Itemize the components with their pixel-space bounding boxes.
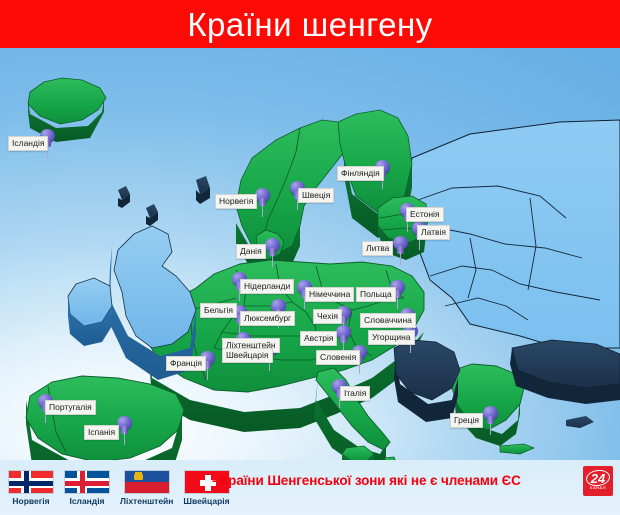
legend-flag-cell-li: Ліхтенштейн <box>120 470 173 506</box>
country-label-9: Німеччина <box>305 287 354 302</box>
country-label-23: Італія <box>340 386 370 401</box>
country-label-24: Греція <box>450 413 483 428</box>
legend-flag-label-li: Ліхтенштейн <box>120 496 173 506</box>
channel-logo[interactable]: 24 КАНАЛ <box>583 466 613 496</box>
logo-ring <box>585 468 611 487</box>
country-label-14: Словаччина <box>360 313 416 328</box>
legend-flags: НорвегіяІсландіяЛіхтенштейнШвейцарія <box>8 470 230 506</box>
country-label-16: Австрія <box>300 331 337 346</box>
country-label-21: Португалія <box>45 400 96 415</box>
country-label-13: Чехія <box>313 309 342 324</box>
country-label-8: Нідерланди <box>240 279 294 294</box>
country-label-5: Латвія <box>417 225 450 240</box>
legend-flag-cell-is: Ісландія <box>64 470 110 506</box>
legend-note: - Країни Шенгенської зони які не є члена… <box>212 473 521 488</box>
europe-map-svg <box>0 48 620 460</box>
country-label-2: Швеція <box>298 188 334 203</box>
pin-needle-icon <box>397 296 399 309</box>
country-label-12: Люксембург <box>240 311 295 326</box>
country-label-4: Естонія <box>406 207 444 222</box>
country-label-20: Франція <box>166 356 206 371</box>
infographic-root: Країни шенгену <box>0 0 620 515</box>
country-label-6: Литва <box>362 241 393 256</box>
flag-icon-li <box>124 470 170 494</box>
country-label-18: Швейцарія <box>222 348 273 363</box>
legend-flag-cell-no: Норвегія <box>8 470 54 506</box>
flag-icon-is <box>64 470 110 494</box>
pin-needle-icon <box>262 204 264 217</box>
country-label-7: Данія <box>236 244 266 259</box>
title-bar: Країни шенгену <box>0 0 620 48</box>
country-label-3: Фінляндія <box>337 166 384 181</box>
north-atlantic-rocks <box>118 176 210 226</box>
map-pin-6[interactable] <box>393 236 409 266</box>
pin-needle-icon <box>124 432 126 445</box>
country-label-22: Іспанія <box>84 425 119 440</box>
map-stage: ІсландіяНорвегіяШвеціяФінляндіяЕстоніяЛа… <box>0 48 620 460</box>
country-label-1: Норвегія <box>215 194 257 209</box>
country-label-0: Ісландія <box>8 136 48 151</box>
country-label-10: Польща <box>356 287 396 302</box>
page-title: Країни шенгену <box>187 8 432 41</box>
pin-needle-icon <box>207 367 209 380</box>
map-pin-24[interactable] <box>483 406 499 436</box>
map-pin-1[interactable] <box>255 188 271 218</box>
country-label-11: Бельгія <box>200 303 237 318</box>
country-label-17: Угорщина <box>368 330 415 345</box>
legend-flag-label-no: Норвегія <box>12 496 49 506</box>
legend-flag-label-ch: Швейцарія <box>183 496 229 506</box>
pin-needle-icon <box>400 252 402 265</box>
pin-needle-icon <box>272 254 274 267</box>
pin-needle-icon <box>490 422 492 435</box>
map-pin-22[interactable] <box>117 416 133 446</box>
map-pin-7[interactable] <box>265 238 281 268</box>
flag-icon-no <box>8 470 54 494</box>
iceland-top <box>28 78 106 124</box>
legend-flag-label-is: Ісландія <box>69 496 104 506</box>
country-label-19: Словенія <box>316 350 360 365</box>
legend-bar: НорвегіяІсландіяЛіхтенштейнШвейцарія - К… <box>0 460 620 515</box>
